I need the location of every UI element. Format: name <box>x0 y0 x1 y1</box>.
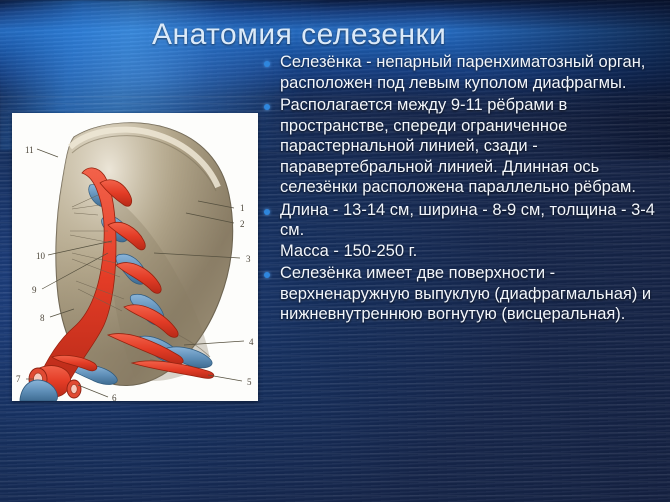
spleen-diagram-panel: 11 1 2 3 4 5 6 7 8 9 10 <box>12 113 258 401</box>
presentation-slide: Анатомия селезенки <box>0 0 670 502</box>
list-item: Селезёнка имеет две поверхности - верхне… <box>264 263 664 325</box>
bullet-text: Длина - 13-14 см, ширина - 8-9 см, толщи… <box>280 200 664 262</box>
bullet-text: Располагается между 9-11 рёбрами в прост… <box>280 95 664 198</box>
figure-label-3: 3 <box>246 254 251 264</box>
bullet-dot-icon <box>264 104 270 110</box>
bullet-dot-icon <box>264 209 270 215</box>
figure-label-2: 2 <box>240 219 245 229</box>
figure-label-1: 1 <box>240 203 245 213</box>
figure-label-11: 11 <box>25 145 34 155</box>
figure-label-9: 9 <box>32 285 37 295</box>
figure-label-4: 4 <box>249 337 254 347</box>
list-item: Длина - 13-14 см, ширина - 8-9 см, толщи… <box>264 200 664 262</box>
spleen-illustration: 11 1 2 3 4 5 6 7 8 9 10 <box>12 113 258 401</box>
list-item: Располагается между 9-11 рёбрами в прост… <box>264 95 664 198</box>
list-item: Селезёнка - непарный паренхиматозный орг… <box>264 52 664 93</box>
slide-title: Анатомия селезенки <box>152 18 446 52</box>
bullet-text: Селезёнка - непарный паренхиматозный орг… <box>280 52 664 93</box>
bullet-list: Селезёнка - непарный паренхиматозный орг… <box>264 52 664 327</box>
figure-label-6: 6 <box>112 393 117 401</box>
bullet-dot-icon <box>264 272 270 278</box>
figure-label-5: 5 <box>247 377 252 387</box>
figure-label-8: 8 <box>40 313 45 323</box>
bullet-dot-icon <box>264 61 270 67</box>
figure-label-7: 7 <box>16 374 21 384</box>
bullet-text: Селезёнка имеет две поверхности - верхне… <box>280 263 664 325</box>
figure-label-10: 10 <box>36 251 46 261</box>
